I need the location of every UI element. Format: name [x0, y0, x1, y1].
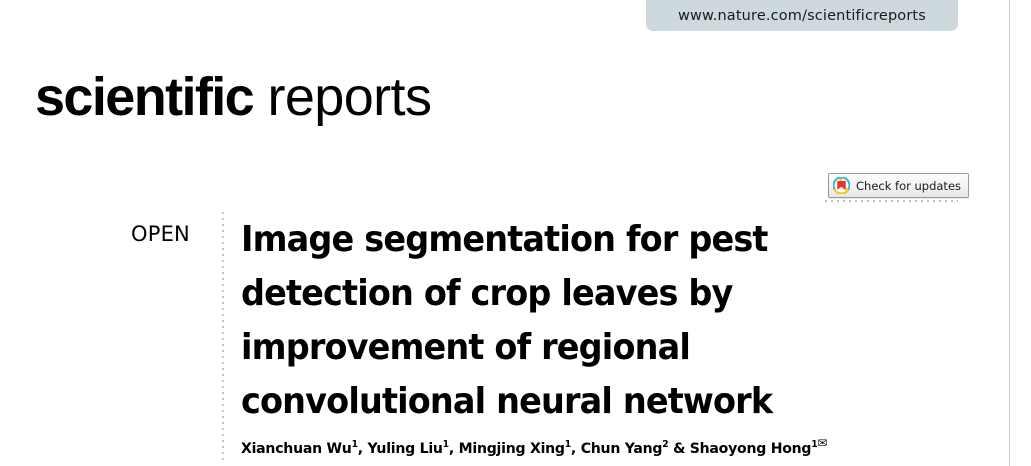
- page-edge-rule: [1009, 0, 1010, 466]
- journal-masthead[interactable]: scientific reports: [35, 66, 431, 128]
- author-name[interactable]: Yuling Liu: [368, 441, 443, 457]
- author-separator: ,: [571, 441, 581, 457]
- crossmark-dotted-underline: [825, 200, 958, 202]
- author-list: Xianchuan Wu1, Yuling Liu1, Mingjing Xin…: [241, 439, 901, 459]
- title-dotted-divider: [222, 212, 224, 462]
- masthead-word-reports: reports: [253, 67, 431, 127]
- journal-url[interactable]: www.nature.com/scientificreports: [678, 8, 926, 24]
- article-page: www.nature.com/scientificreports scienti…: [0, 0, 1031, 466]
- corresponding-author-email-icon[interactable]: ✉: [817, 436, 827, 450]
- author-name[interactable]: Shaoyong Hong: [690, 441, 811, 457]
- running-head-banner: www.nature.com/scientificreports: [646, 0, 958, 31]
- title-line: convolutional neural network: [241, 375, 873, 429]
- title-line: improvement of regional: [241, 321, 873, 375]
- title-line: Image segmentation for pest: [241, 213, 873, 267]
- article-head: Image segmentation for pest detection of…: [241, 213, 921, 459]
- check-for-updates-label: Check for updates: [856, 179, 961, 193]
- check-for-updates-badge[interactable]: Check for updates: [828, 173, 969, 198]
- author-name[interactable]: Chun Yang: [581, 441, 663, 457]
- crossmark-icon: [833, 177, 850, 194]
- open-access-label: OPEN: [131, 222, 190, 246]
- author-separator: ,: [358, 441, 368, 457]
- author-separator: &: [668, 441, 689, 457]
- title-line: detection of crop leaves by: [241, 267, 873, 321]
- author-separator: ,: [449, 441, 459, 457]
- author-name[interactable]: Mingjing Xing: [459, 441, 565, 457]
- masthead-word-scientific: scientific: [35, 67, 253, 127]
- author-name[interactable]: Xianchuan Wu: [241, 441, 352, 457]
- page-title: Image segmentation for pest detection of…: [241, 213, 873, 429]
